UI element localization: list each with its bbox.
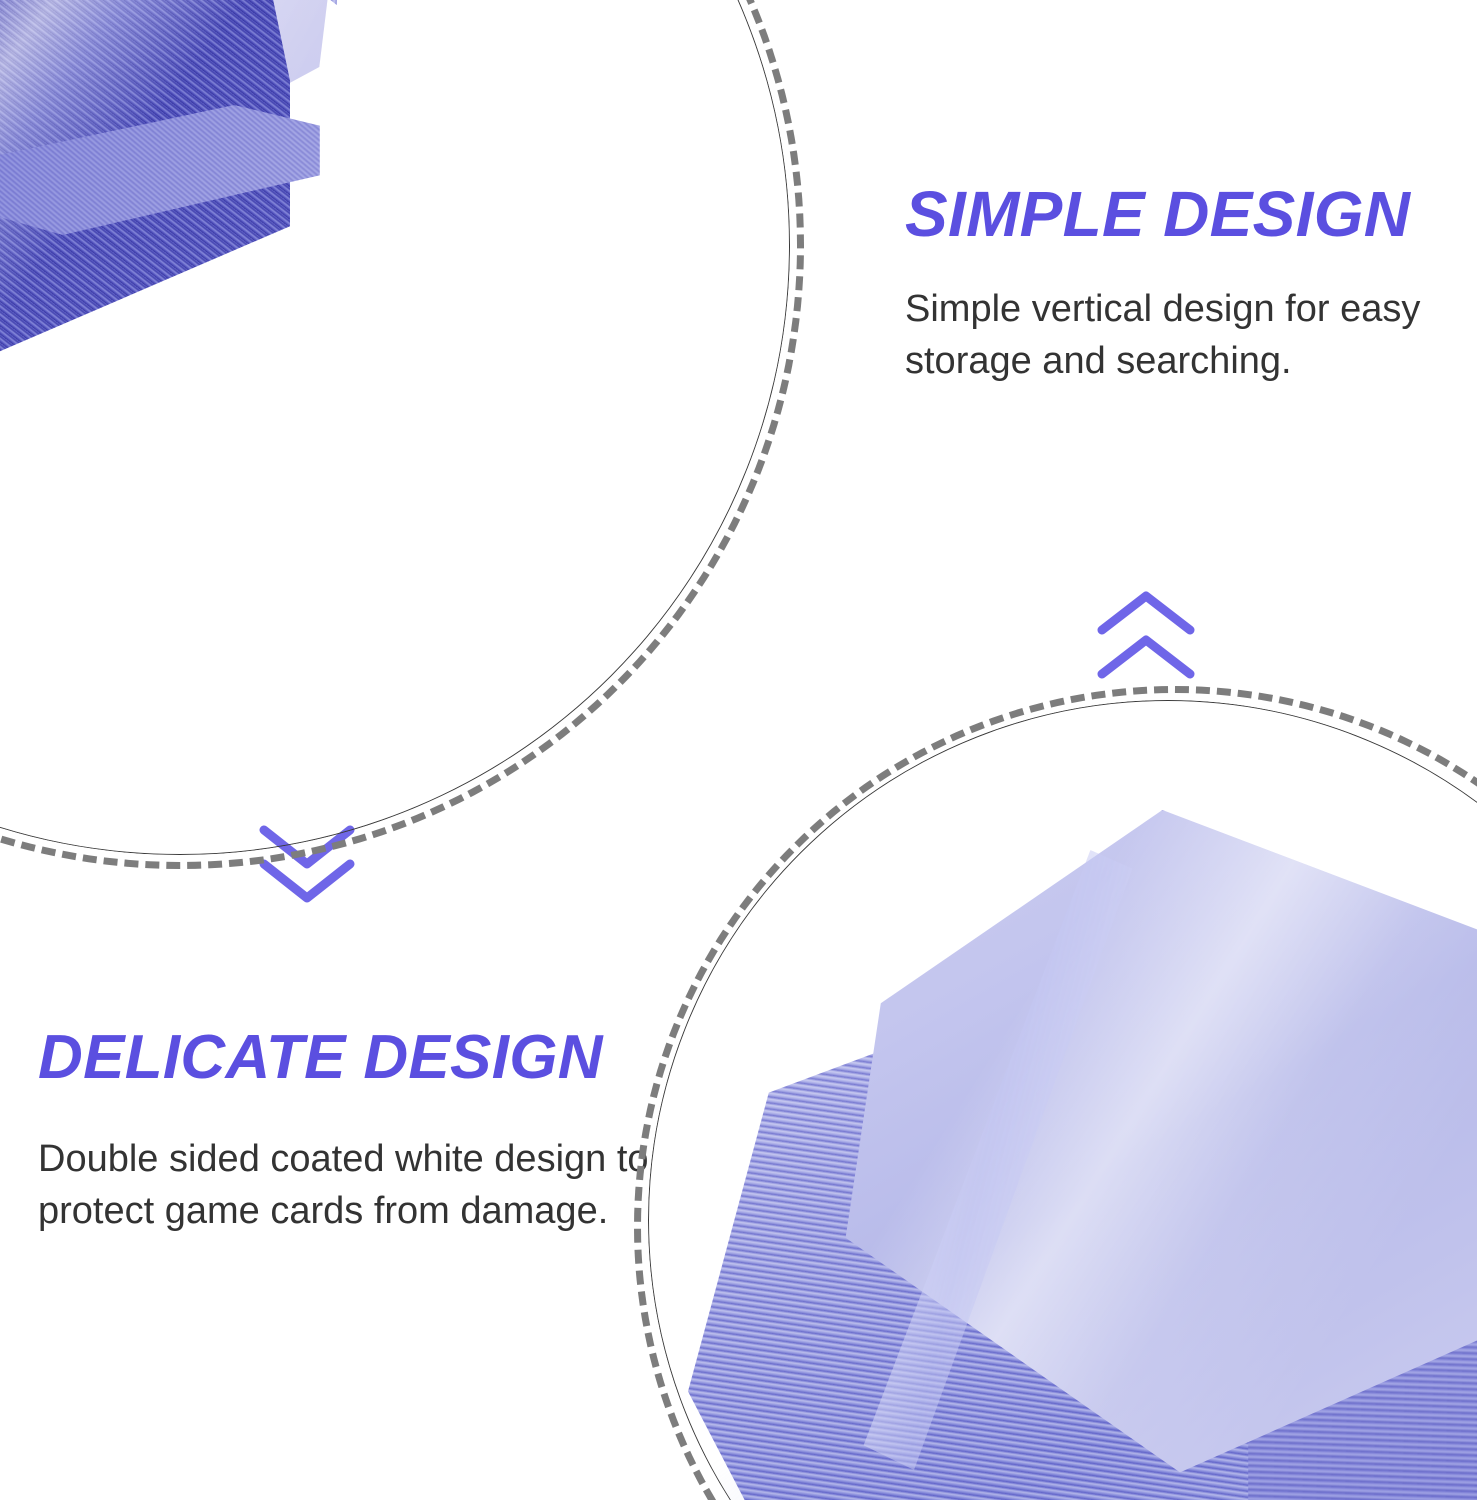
product-photo-bottom-right bbox=[648, 700, 1477, 1500]
angled-stack-illustration bbox=[648, 700, 1477, 1500]
double-chevron-up-icon bbox=[1086, 586, 1206, 691]
feature-heading-simple-design: SIMPLE DESIGN bbox=[905, 182, 1410, 246]
double-chevron-down-icon bbox=[252, 818, 362, 915]
feature-heading-delicate-design: DELICATE DESIGN bbox=[38, 1027, 603, 1089]
feature-body-simple-design: Simple vertical design for easy storage … bbox=[905, 283, 1465, 388]
sleeve-front-edge-highlight bbox=[0, 0, 290, 495]
feature-body-delicate-design: Double sided coated white design to prot… bbox=[38, 1133, 658, 1238]
product-feature-infographic: SIMPLE DESIGN Simple vertical design for… bbox=[0, 0, 1477, 1500]
